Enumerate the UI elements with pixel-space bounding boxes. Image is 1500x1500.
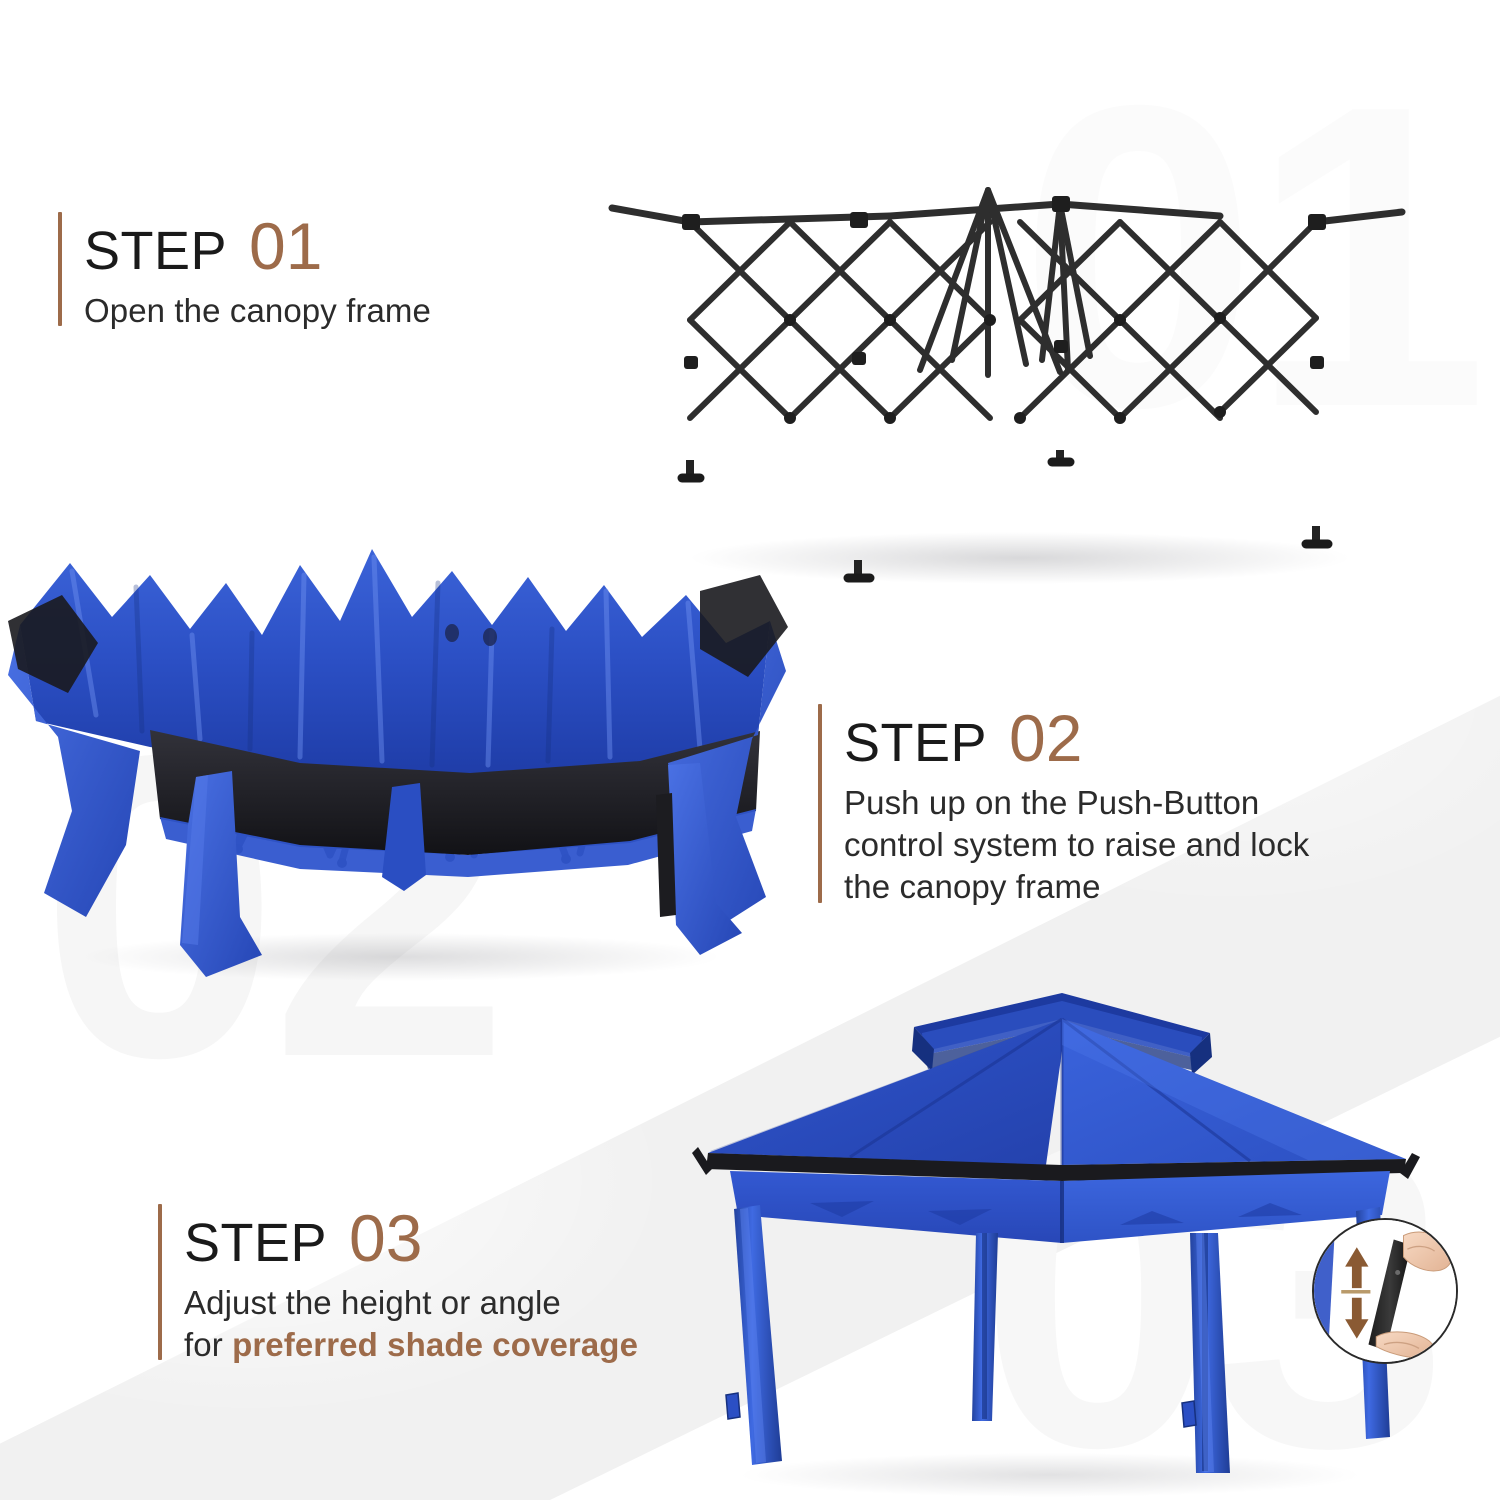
roof-left-panel	[708, 1019, 1062, 1165]
step-03-number: 03	[349, 1200, 422, 1276]
divider-tick	[1341, 1290, 1370, 1294]
step-02-image-draped-canopy	[0, 525, 790, 985]
step-01-text-block: STEP 01 Open the canopy frame	[58, 208, 431, 332]
height-adjust-inset-callout	[1312, 1218, 1458, 1364]
step-03-desc-highlight: preferred shade coverage	[232, 1326, 638, 1363]
step-03-heading: STEP 03	[184, 1200, 638, 1276]
gazebo-svg	[690, 975, 1420, 1500]
step-03-desc-line-1: Adjust the height or angle	[184, 1284, 561, 1321]
step-01-heading: STEP 01	[84, 208, 431, 284]
step-01-number: 01	[249, 208, 322, 284]
step-03-word: STEP	[184, 1212, 327, 1274]
push-button	[1395, 1270, 1400, 1275]
step-02-desc-line-1: Push up on the Push-Button	[844, 784, 1259, 821]
infographic-canvas: 01 02 03	[0, 0, 1500, 1500]
step-02-text-block: STEP 02 Push up on the Push-Button contr…	[818, 700, 1309, 909]
step-02-heading: STEP 02	[844, 700, 1309, 776]
step-02-description: Push up on the Push-Button control syste…	[844, 782, 1309, 909]
gazebo-legs	[734, 1205, 1390, 1473]
step-03-desc-line-2-prefix: for	[184, 1326, 232, 1363]
step-03-text-block: STEP 03 Adjust the height or angle for p…	[158, 1200, 638, 1366]
step-01-word: STEP	[84, 220, 227, 282]
canopy-fabric-top	[20, 549, 770, 775]
leg-pull-tabs	[726, 1393, 1196, 1427]
draped-canopy-svg	[0, 525, 790, 985]
step-02-number: 02	[1009, 700, 1082, 776]
step-02-word: STEP	[844, 712, 987, 774]
fascia-left	[730, 1171, 1062, 1243]
step-02-desc-line-3: the canopy frame	[844, 868, 1101, 905]
step-01-description: Open the canopy frame	[84, 290, 431, 332]
step-02-desc-line-2: control system to raise and lock	[844, 826, 1309, 863]
step-03-image-erected-gazebo	[690, 975, 1420, 1500]
height-adjust-detail-svg	[1314, 1220, 1456, 1362]
step-03-description: Adjust the height or angle for preferred…	[184, 1282, 638, 1366]
